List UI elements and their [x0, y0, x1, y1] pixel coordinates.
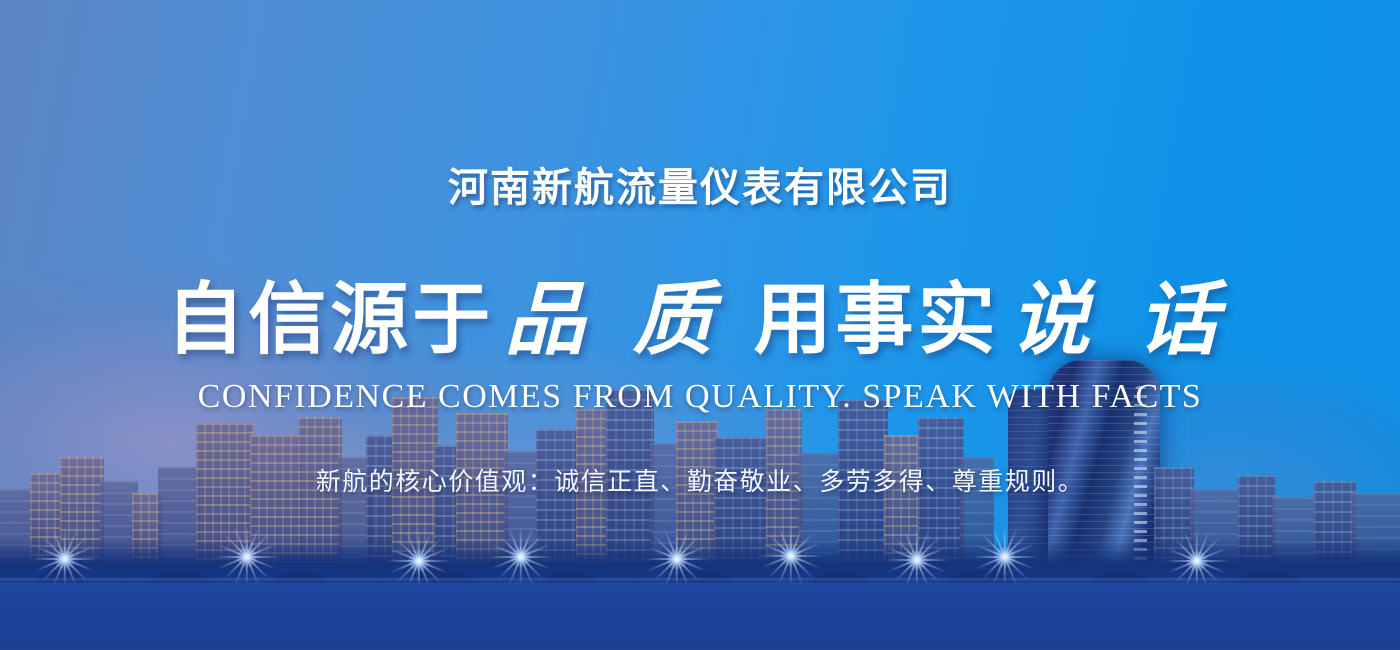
headline: 自信源于 品 质 用事实 说 话	[0, 255, 1400, 371]
headline-brush-1: 品 质	[499, 272, 729, 366]
hero-banner: 河南新航流量仪表有限公司 自信源于 品 质 用事实 说 话 CONFIDENCE…	[0, 0, 1400, 650]
headline-part-2: 用事实	[753, 275, 999, 365]
banner-text-layer: 河南新航流量仪表有限公司 自信源于 品 质 用事实 说 话 CONFIDENCE…	[0, 0, 1400, 650]
core-values-tagline: 新航的核心价值观：诚信正直、勤奋敬业、多劳多得、尊重规则。	[0, 462, 1400, 498]
headline-brush-2: 说 话	[1004, 272, 1234, 366]
english-subtitle: CONFIDENCE COMES FROM QUALITY. SPEAK WIT…	[0, 378, 1400, 416]
company-name: 河南新航流量仪表有限公司	[0, 155, 1400, 213]
headline-part-1: 自信源于	[166, 275, 494, 365]
